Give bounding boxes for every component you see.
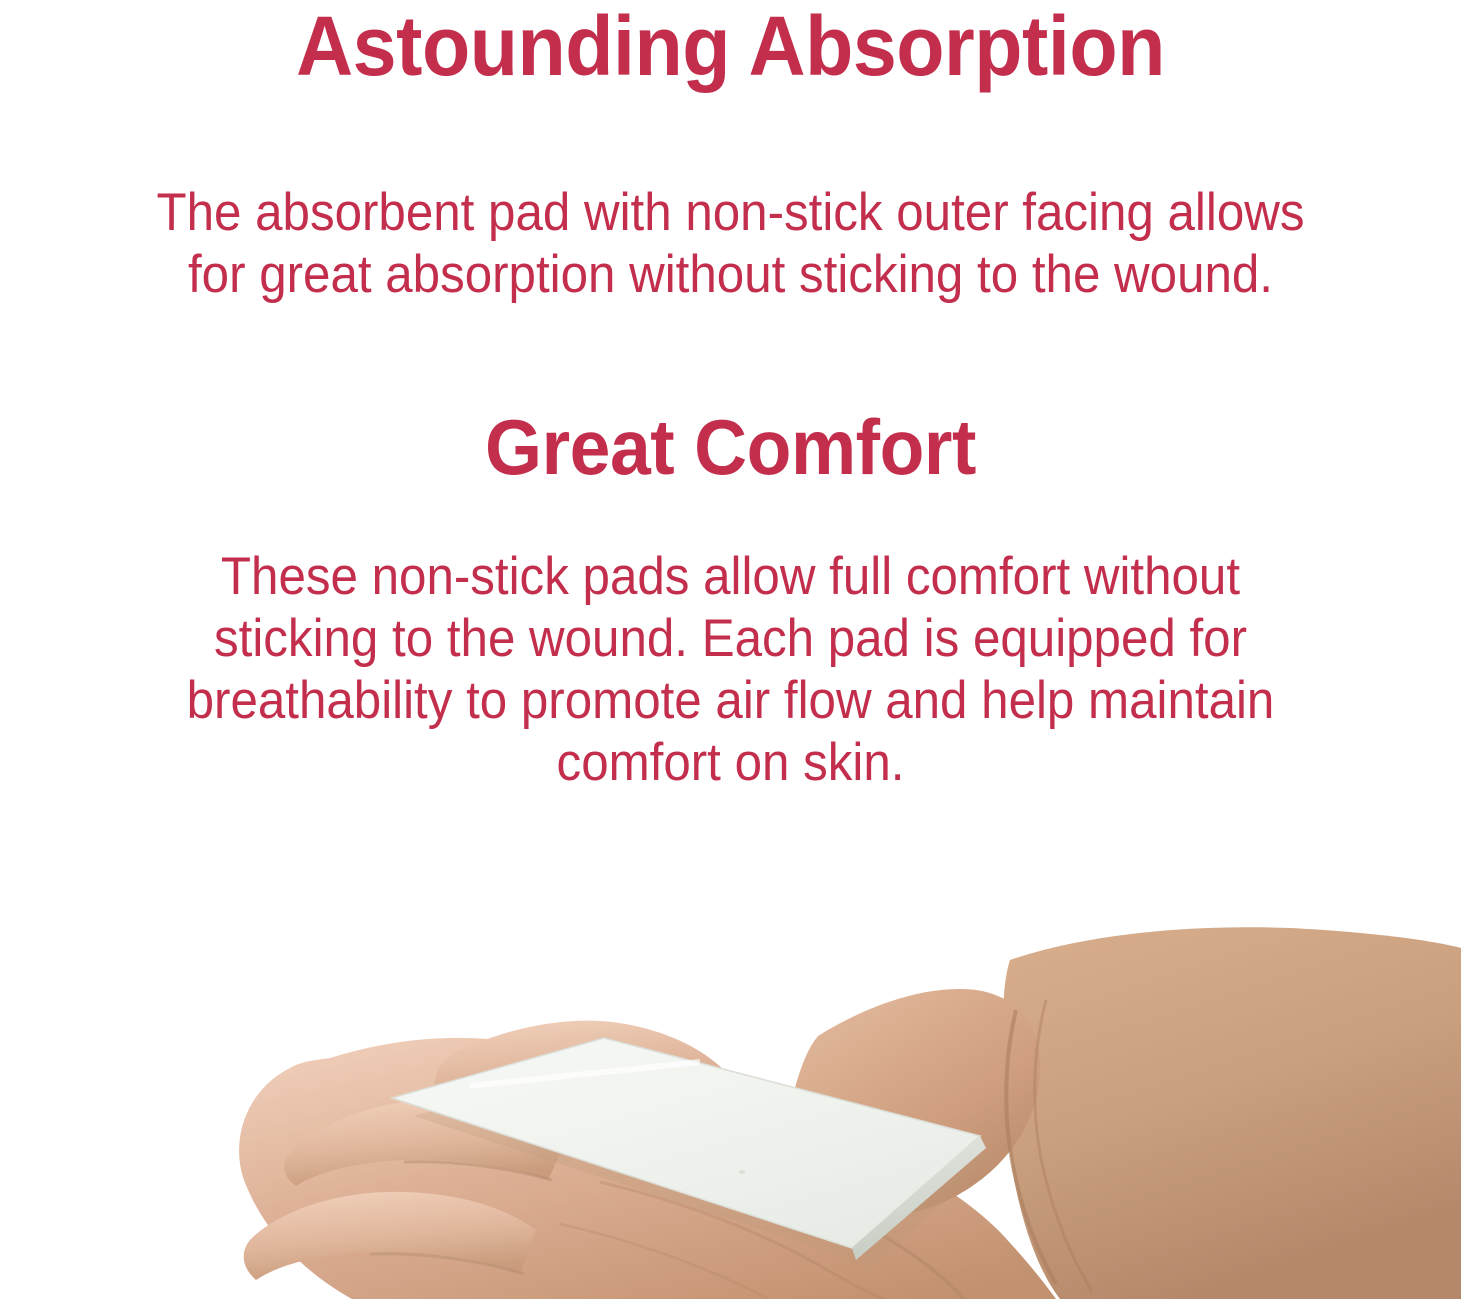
pad-surface-speck <box>739 1170 745 1174</box>
body-comfort: These non-stick pads allow full comfort … <box>51 546 1410 794</box>
forearm <box>1003 927 1461 1299</box>
hand-illustration <box>0 840 1461 1299</box>
heading-astounding-absorption: Astounding Absorption <box>44 4 1417 90</box>
body-absorption-line-1: The absorbent pad with non-stick outer f… <box>51 182 1410 244</box>
body-comfort-line-3: breathability to promote air flow and he… <box>51 670 1410 732</box>
body-comfort-line-1: These non-stick pads allow full comfort … <box>51 546 1410 608</box>
heading-great-comfort: Great Comfort <box>44 408 1417 488</box>
product-photo-hand-holding-pad <box>0 840 1461 1299</box>
body-comfort-line-2: sticking to the wound. Each pad is equip… <box>51 608 1410 670</box>
body-comfort-line-4: comfort on skin. <box>51 732 1410 794</box>
body-absorption: The absorbent pad with non-stick outer f… <box>51 182 1410 306</box>
body-absorption-line-2: for great absorption without sticking to… <box>51 244 1410 306</box>
promo-page: Astounding Absorption The absorbent pad … <box>0 0 1461 1299</box>
